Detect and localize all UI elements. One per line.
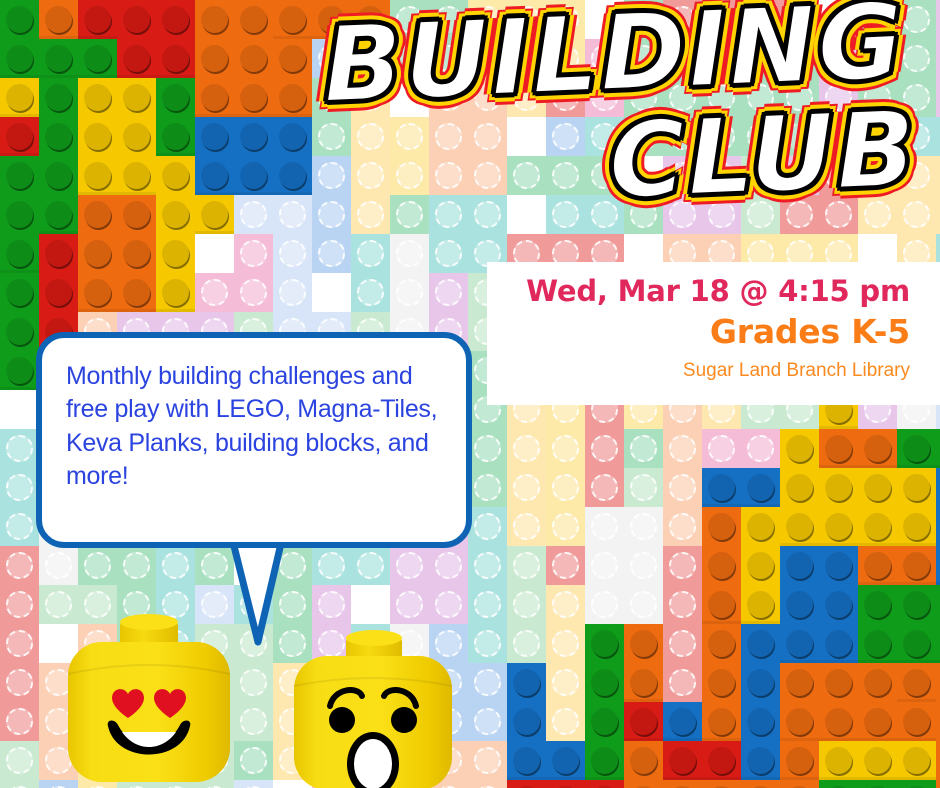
brick-stud xyxy=(669,45,696,72)
brick-stud xyxy=(6,630,33,657)
brick-stud xyxy=(84,6,111,33)
brick-stud xyxy=(669,201,696,228)
brick-stud xyxy=(747,45,774,72)
brick-stud xyxy=(669,630,696,657)
brick-stud xyxy=(825,474,852,501)
brick-stud xyxy=(591,708,618,735)
brick-stud xyxy=(903,6,930,33)
lego-brick xyxy=(234,741,273,780)
brick-stud xyxy=(786,552,813,579)
brick-stud xyxy=(552,747,579,774)
brick-stud xyxy=(825,45,852,72)
brick-stud xyxy=(162,6,189,33)
lego-brick xyxy=(702,507,741,624)
brick-stud xyxy=(903,123,930,150)
brick-stud xyxy=(474,630,501,657)
lego-brick xyxy=(624,741,663,788)
brick-stud xyxy=(396,279,423,306)
brick-stud xyxy=(6,279,33,306)
brick-stud xyxy=(513,513,540,540)
brick-stud xyxy=(864,630,891,657)
lego-brick xyxy=(351,234,390,312)
brick-stud xyxy=(903,513,930,540)
brick-stud xyxy=(357,552,384,579)
lego-brick xyxy=(117,0,195,78)
brick-stud xyxy=(396,6,423,33)
brick-stud xyxy=(708,201,735,228)
brick-stud xyxy=(513,747,540,774)
brick-stud xyxy=(318,6,345,33)
brick-stud xyxy=(825,630,852,657)
brick-stud xyxy=(903,84,930,111)
lego-brick xyxy=(585,507,663,624)
brick-stud xyxy=(162,123,189,150)
brick-stud xyxy=(435,123,462,150)
brick-stud xyxy=(669,513,696,540)
brick-stud xyxy=(903,669,930,696)
brick-stud xyxy=(201,123,228,150)
brick-stud xyxy=(864,708,891,735)
lego-brick xyxy=(624,195,663,234)
speech-bubble-text: Monthly building challenges and free pla… xyxy=(66,360,442,493)
brick-stud xyxy=(357,45,384,72)
brick-stud xyxy=(552,474,579,501)
brick-stud xyxy=(201,45,228,72)
brick-stud xyxy=(279,6,306,33)
brick-stud xyxy=(201,279,228,306)
brick-stud xyxy=(630,552,657,579)
brick-stud xyxy=(45,6,72,33)
lego-brick xyxy=(936,0,940,117)
brick-stud xyxy=(903,747,930,774)
lego-brick xyxy=(468,507,507,663)
brick-stud xyxy=(162,552,189,579)
brick-stud xyxy=(45,201,72,228)
brick-stud xyxy=(240,708,267,735)
brick-stud xyxy=(552,435,579,462)
lego-brick xyxy=(273,195,312,351)
brick-stud xyxy=(786,84,813,111)
lego-brick xyxy=(858,117,897,156)
brick-stud xyxy=(864,552,891,579)
brick-stud xyxy=(6,435,33,462)
brick-stud xyxy=(864,162,891,189)
lego-brick xyxy=(663,702,702,741)
brick-stud xyxy=(552,669,579,696)
brick-stud xyxy=(747,201,774,228)
brick-stud xyxy=(240,240,267,267)
lego-brick xyxy=(39,39,117,78)
brick-stud xyxy=(669,669,696,696)
brick-stud xyxy=(591,474,618,501)
brick-stud xyxy=(279,84,306,111)
brick-stud xyxy=(474,435,501,462)
lego-brick xyxy=(468,0,585,78)
brick-stud xyxy=(435,591,462,618)
brick-stud xyxy=(123,240,150,267)
lego-brick xyxy=(819,39,858,117)
lego-brick xyxy=(780,156,819,195)
brick-stud xyxy=(825,591,852,618)
brick-stud xyxy=(591,513,618,540)
poster-canvas: Wed, Mar 18 @ 4:15 pm Grades K-5 Sugar L… xyxy=(0,0,940,788)
brick-stud xyxy=(279,123,306,150)
brick-stud xyxy=(474,6,501,33)
lego-brick xyxy=(819,780,936,788)
brick-stud xyxy=(552,84,579,111)
lego-brick xyxy=(39,0,78,39)
brick-stud xyxy=(786,669,813,696)
lego-brick xyxy=(312,78,351,156)
lego-brick xyxy=(585,390,624,507)
lego-brick xyxy=(234,195,273,234)
brick-stud xyxy=(591,747,618,774)
lego-brick xyxy=(273,0,390,39)
brick-stud xyxy=(669,708,696,735)
brick-stud xyxy=(825,708,852,735)
brick-stud xyxy=(513,84,540,111)
brick-stud xyxy=(240,123,267,150)
brick-stud xyxy=(903,474,930,501)
lego-brick xyxy=(624,624,663,702)
brick-stud xyxy=(591,435,618,462)
lego-brick xyxy=(234,234,273,312)
lego-brick xyxy=(0,624,39,741)
lego-brick xyxy=(546,117,585,156)
brick-stud xyxy=(84,45,111,72)
brick-stud xyxy=(513,591,540,618)
brick-stud xyxy=(864,669,891,696)
lego-brick xyxy=(858,546,936,585)
lego-brick xyxy=(78,78,156,195)
brick-stud xyxy=(825,552,852,579)
brick-stud xyxy=(318,201,345,228)
brick-stud xyxy=(6,513,33,540)
brick-stud xyxy=(747,435,774,462)
brick-stud xyxy=(903,435,930,462)
brick-stud xyxy=(591,45,618,72)
brick-stud xyxy=(786,513,813,540)
lego-brick xyxy=(663,546,702,702)
brick-stud xyxy=(357,162,384,189)
brick-stud xyxy=(45,240,72,267)
brick-stud xyxy=(162,162,189,189)
brick-stud xyxy=(45,552,72,579)
brick-stud xyxy=(357,279,384,306)
brick-stud xyxy=(123,84,150,111)
brick-stud xyxy=(669,162,696,189)
brick-stud xyxy=(552,552,579,579)
lego-brick xyxy=(624,78,741,156)
brick-stud xyxy=(864,747,891,774)
speech-bubble: Monthly building challenges and free pla… xyxy=(36,332,472,548)
lego-brick xyxy=(741,156,780,234)
lego-brick xyxy=(390,0,468,78)
brick-stud xyxy=(201,201,228,228)
brick-stud xyxy=(240,6,267,33)
lego-brick xyxy=(0,156,39,273)
brick-stud xyxy=(162,201,189,228)
brick-stud xyxy=(474,162,501,189)
brick-stud xyxy=(552,6,579,33)
lego-brick xyxy=(156,156,195,312)
brick-stud xyxy=(513,708,540,735)
surprised-head xyxy=(290,630,456,788)
brick-stud xyxy=(747,6,774,33)
brick-stud xyxy=(6,474,33,501)
lego-brick xyxy=(663,741,741,780)
brick-stud xyxy=(396,162,423,189)
brick-stud xyxy=(240,201,267,228)
brick-stud xyxy=(123,45,150,72)
brick-stud xyxy=(630,708,657,735)
brick-stud xyxy=(708,669,735,696)
brick-stud xyxy=(84,123,111,150)
event-grades: Grades K-5 xyxy=(497,311,910,352)
brick-stud xyxy=(6,747,33,774)
brick-stud xyxy=(825,123,852,150)
brick-stud xyxy=(318,84,345,111)
brick-stud xyxy=(123,279,150,306)
brick-stud xyxy=(903,201,930,228)
brick-stud xyxy=(435,162,462,189)
lego-brick xyxy=(390,117,429,195)
brick-stud xyxy=(435,84,462,111)
brick-stud xyxy=(786,123,813,150)
heart-eyes-smiling-head xyxy=(62,612,234,788)
lego-brick xyxy=(195,0,273,117)
brick-stud xyxy=(747,162,774,189)
lego-brick xyxy=(507,780,624,788)
brick-stud xyxy=(6,318,33,345)
brick-stud xyxy=(669,6,696,33)
brick-stud xyxy=(240,747,267,774)
brick-stud xyxy=(786,630,813,657)
brick-stud xyxy=(825,747,852,774)
brick-stud xyxy=(357,201,384,228)
lego-brick xyxy=(546,78,585,117)
lego-brick xyxy=(312,39,390,78)
brick-stud xyxy=(825,162,852,189)
brick-stud xyxy=(591,552,618,579)
brick-stud xyxy=(708,708,735,735)
brick-stud xyxy=(435,201,462,228)
brick-stud xyxy=(591,591,618,618)
brick-stud xyxy=(474,669,501,696)
brick-stud xyxy=(708,162,735,189)
brick-stud xyxy=(708,513,735,540)
brick-stud xyxy=(513,435,540,462)
brick-stud xyxy=(552,513,579,540)
lego-brick xyxy=(0,546,39,624)
lego-brick xyxy=(702,468,780,507)
lego-brick xyxy=(780,195,819,234)
lego-brick xyxy=(39,78,78,234)
brick-stud xyxy=(630,435,657,462)
brick-stud xyxy=(864,6,891,33)
lego-brick xyxy=(585,624,624,780)
lego-brick xyxy=(78,0,117,39)
brick-stud xyxy=(357,240,384,267)
brick-stud xyxy=(708,552,735,579)
lego-brick xyxy=(624,468,663,507)
event-location: Sugar Land Branch Library xyxy=(497,359,910,384)
lego-brick xyxy=(624,429,663,468)
brick-stud xyxy=(6,552,33,579)
brick-stud xyxy=(825,669,852,696)
brick-stud xyxy=(45,84,72,111)
brick-stud xyxy=(201,84,228,111)
brick-stud xyxy=(669,84,696,111)
brick-stud xyxy=(474,747,501,774)
brick-stud xyxy=(786,201,813,228)
brick-stud xyxy=(591,162,618,189)
brick-stud xyxy=(6,240,33,267)
brick-stud xyxy=(240,279,267,306)
brick-stud xyxy=(84,201,111,228)
brick-stud xyxy=(708,474,735,501)
brick-stud xyxy=(864,591,891,618)
brick-stud xyxy=(6,45,33,72)
brick-stud xyxy=(669,474,696,501)
brick-stud xyxy=(864,84,891,111)
lego-brick xyxy=(741,507,780,624)
brick-stud xyxy=(630,84,657,111)
brick-stud xyxy=(435,240,462,267)
brick-stud xyxy=(84,552,111,579)
lego-brick xyxy=(546,741,585,780)
lego-brick xyxy=(702,429,780,468)
brick-stud xyxy=(708,6,735,33)
lego-brick xyxy=(663,0,819,39)
brick-stud xyxy=(708,747,735,774)
brick-stud xyxy=(6,84,33,111)
lego-brick xyxy=(390,195,429,234)
lego-brick xyxy=(936,429,940,468)
brick-stud xyxy=(474,201,501,228)
brick-stud xyxy=(630,630,657,657)
brick-stud xyxy=(474,84,501,111)
event-datetime: Wed, Mar 18 @ 4:15 pm xyxy=(497,274,910,309)
brick-stud xyxy=(786,162,813,189)
brick-stud xyxy=(162,240,189,267)
brick-stud xyxy=(513,552,540,579)
brick-stud xyxy=(591,201,618,228)
lego-brick xyxy=(936,663,940,788)
brick-stud xyxy=(84,240,111,267)
brick-stud xyxy=(708,591,735,618)
lego-brick xyxy=(858,0,936,117)
brick-stud xyxy=(630,513,657,540)
brick-stud xyxy=(864,474,891,501)
brick-stud xyxy=(123,552,150,579)
brick-stud xyxy=(864,513,891,540)
brick-stud xyxy=(747,747,774,774)
brick-stud xyxy=(825,435,852,462)
brick-stud xyxy=(747,669,774,696)
lego-brick xyxy=(819,741,936,780)
lego-brick xyxy=(780,429,819,546)
brick-stud xyxy=(630,669,657,696)
lego-brick xyxy=(897,117,940,156)
brick-stud xyxy=(825,84,852,111)
lego-brick xyxy=(273,39,312,117)
brick-stud xyxy=(279,279,306,306)
lego-brick xyxy=(663,390,702,546)
brick-stud xyxy=(747,630,774,657)
brick-stud xyxy=(474,474,501,501)
brick-stud xyxy=(903,552,930,579)
brick-stud xyxy=(435,279,462,306)
brick-stud xyxy=(123,201,150,228)
brick-stud xyxy=(474,708,501,735)
lego-brick xyxy=(741,39,819,156)
lego-brick xyxy=(897,663,936,702)
brick-stud xyxy=(864,123,891,150)
brick-stud xyxy=(747,474,774,501)
brick-stud xyxy=(45,123,72,150)
lego-brick xyxy=(585,39,624,117)
brick-stud xyxy=(747,591,774,618)
brick-stud xyxy=(279,162,306,189)
brick-stud xyxy=(552,45,579,72)
brick-stud xyxy=(240,162,267,189)
lego-brick xyxy=(0,0,39,78)
brick-stud xyxy=(474,123,501,150)
brick-stud xyxy=(786,591,813,618)
brick-stud xyxy=(6,201,33,228)
brick-stud xyxy=(552,201,579,228)
lego-brick xyxy=(624,0,663,78)
brick-stud xyxy=(513,630,540,657)
brick-stud xyxy=(279,240,306,267)
brick-stud xyxy=(630,747,657,774)
brick-stud xyxy=(6,357,33,384)
brick-stud xyxy=(396,201,423,228)
lego-brick xyxy=(0,117,39,156)
brick-stud xyxy=(6,708,33,735)
brick-stud xyxy=(279,45,306,72)
brick-stud xyxy=(396,123,423,150)
lego-brick xyxy=(741,624,780,780)
lego-brick xyxy=(663,156,741,234)
lego-brick xyxy=(312,156,351,273)
brick-stud xyxy=(357,123,384,150)
brick-stud xyxy=(708,435,735,462)
lego-brick xyxy=(507,546,546,663)
brick-stud xyxy=(6,123,33,150)
lego-brick xyxy=(858,156,940,234)
brick-stud xyxy=(45,162,72,189)
lego-brick xyxy=(819,117,858,234)
lego-brick xyxy=(546,585,585,741)
lego-brick xyxy=(0,273,39,390)
brick-stud xyxy=(123,6,150,33)
brick-stud xyxy=(864,435,891,462)
brick-stud xyxy=(84,84,111,111)
lego-brick xyxy=(507,390,546,546)
brick-stud xyxy=(6,6,33,33)
brick-stud xyxy=(513,669,540,696)
brick-stud xyxy=(474,591,501,618)
brick-stud xyxy=(630,45,657,72)
brick-stud xyxy=(864,201,891,228)
brick-stud xyxy=(318,162,345,189)
brick-stud xyxy=(747,513,774,540)
brick-stud xyxy=(786,747,813,774)
brick-stud xyxy=(903,591,930,618)
brick-stud xyxy=(318,240,345,267)
